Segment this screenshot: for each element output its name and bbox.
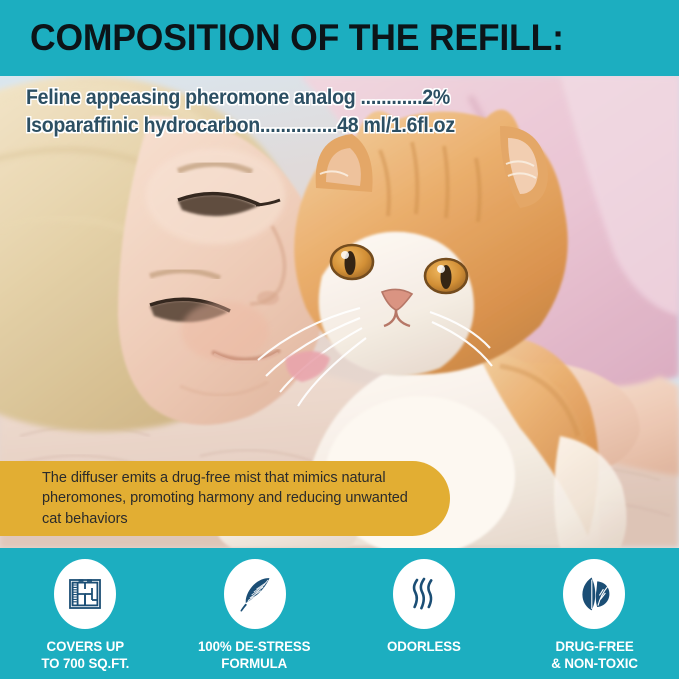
feature-label: COVERS UP TO 700 SQ.FT. <box>41 638 129 672</box>
floor-plan-icon <box>65 574 105 614</box>
feature-band: COVERS UP TO 700 SQ.FT. <box>0 548 679 679</box>
feature-label: ODORLESS <box>387 638 461 655</box>
feature-label: DRUG-FREE & NON-TOXIC <box>551 638 638 672</box>
header-band: COMPOSITION OF THE REFILL: <box>0 0 679 76</box>
composition-line-2: Isoparaffinic hydrocarbon...............… <box>26 112 455 140</box>
feature-drug-free-non-toxic: DRUG-FREE & NON-TOXIC <box>509 548 679 679</box>
feature-icon-circle <box>563 559 625 629</box>
vapor-waves-icon <box>404 574 444 614</box>
feature-icon-circle <box>224 559 286 629</box>
feature-100-percent-de-stress-formula: 100% DE-STRESS FORMULA <box>170 548 340 679</box>
feature-icon-circle <box>54 559 116 629</box>
benefit-callout: The diffuser emits a drug-free mist that… <box>0 461 450 536</box>
composition-line-1: Feline appeasing pheromone analog ......… <box>26 84 455 112</box>
feature-label: 100% DE-STRESS FORMULA <box>198 638 311 672</box>
feather-icon <box>235 574 275 614</box>
leaves-icon <box>573 573 615 615</box>
feature-covers-up-to-700-sqft: COVERS UP TO 700 SQ.FT. <box>0 548 170 679</box>
feature-list: COVERS UP TO 700 SQ.FT. <box>0 548 679 679</box>
benefit-callout-text: The diffuser emits a drug-free mist that… <box>0 468 450 530</box>
feature-icon-circle <box>393 559 455 629</box>
product-infographic: COMPOSITION OF THE REFILL: Feline appeas… <box>0 0 679 679</box>
page-title: COMPOSITION OF THE REFILL: <box>30 17 564 59</box>
composition-list: Feline appeasing pheromone analog ......… <box>26 84 487 139</box>
feature-odorless: ODORLESS <box>340 548 510 679</box>
